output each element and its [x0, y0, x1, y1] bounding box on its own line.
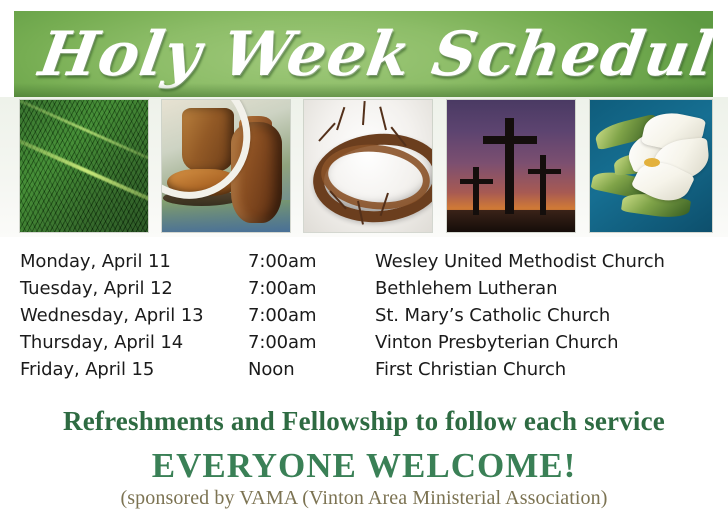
- table-row: Wednesday, April 13 7:00am St. Mary’s Ca…: [0, 302, 728, 329]
- schedule-time: 7:00am: [248, 275, 316, 302]
- palm-frond-image: [20, 100, 148, 232]
- schedule-place: Bethlehem Lutheran: [375, 275, 557, 302]
- photo-strip: [0, 97, 728, 237]
- thorn-spike: [379, 107, 387, 131]
- cross-left-vertical: [473, 167, 479, 215]
- schedule-time: 7:00am: [248, 329, 316, 356]
- schedule-place: St. Mary’s Catholic Church: [375, 302, 610, 329]
- crown-of-thorns-image: [304, 100, 432, 232]
- crown-of-thorns-photo: [304, 100, 432, 232]
- lily-stamen: [644, 158, 660, 167]
- schedule-day: Friday, April 15: [20, 356, 154, 383]
- schedule-place: Wesley United Methodist Church: [375, 248, 665, 275]
- header-banner: Holy Week Schedule: [14, 11, 713, 97]
- table-row: Friday, April 15 Noon First Christian Ch…: [0, 356, 728, 383]
- schedule-time: Noon: [248, 356, 295, 383]
- schedule-place: Vinton Presbyterian Church: [375, 329, 618, 356]
- palm-frond-photo: [20, 100, 148, 232]
- everyone-welcome-headline: EVERYONE WELCOME!: [0, 446, 728, 486]
- thorn-spike: [319, 122, 337, 141]
- schedule-time: 7:00am: [248, 248, 316, 275]
- table-row: Thursday, April 14 7:00am Vinton Presbyt…: [0, 329, 728, 356]
- cross-center-horizontal: [483, 136, 537, 144]
- schedule-day: Thursday, April 14: [20, 329, 183, 356]
- easter-lily-photo: [590, 100, 712, 232]
- cross-right-horizontal: [528, 169, 561, 174]
- bread-and-pottery-photo: [162, 100, 290, 232]
- palm-rib-primary: [20, 132, 148, 209]
- cross-right-vertical: [540, 155, 546, 214]
- thorn-spike: [362, 101, 366, 125]
- page-title: Holy Week Schedule: [34, 15, 707, 95]
- schedule-table: Monday, April 11 7:00am Wesley United Me…: [0, 248, 728, 383]
- schedule-day: Wednesday, April 13: [20, 302, 204, 329]
- refreshments-note: Refreshments and Fellowship to follow ea…: [0, 406, 728, 437]
- three-crosses-photo: [447, 100, 575, 232]
- cross-left-horizontal: [460, 179, 493, 184]
- schedule-time: 7:00am: [248, 302, 316, 329]
- schedule-day: Tuesday, April 12: [20, 275, 173, 302]
- easter-lily-image: [590, 100, 712, 232]
- table-row: Monday, April 11 7:00am Wesley United Me…: [0, 248, 728, 275]
- schedule-place: First Christian Church: [375, 356, 566, 383]
- cross-center-vertical: [505, 118, 514, 213]
- table-row: Tuesday, April 12 7:00am Bethlehem Luthe…: [0, 275, 728, 302]
- three-crosses-image: [447, 100, 575, 232]
- holy-week-flyer: Holy Week Schedule: [0, 0, 728, 524]
- palm-rib-secondary: [20, 100, 148, 168]
- schedule-day: Monday, April 11: [20, 248, 171, 275]
- sponsor-note: (sponsored by VAMA (Vinton Area Minister…: [0, 487, 728, 510]
- thorn-spike: [336, 107, 345, 130]
- bread-and-pottery-image: [162, 100, 290, 232]
